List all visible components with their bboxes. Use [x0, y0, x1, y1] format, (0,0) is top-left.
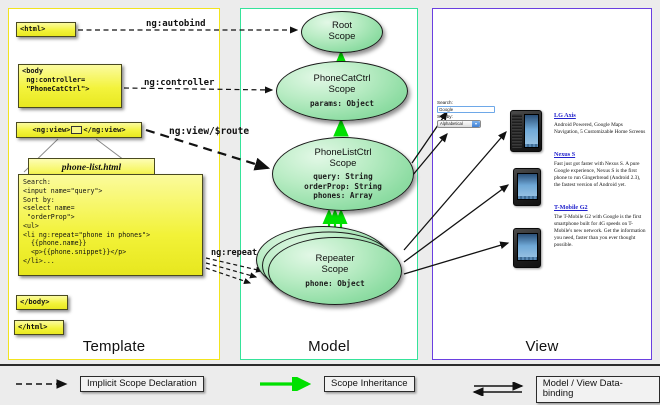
- panel-model-label: Model: [241, 338, 417, 355]
- phone-link-tmobile-g2[interactable]: T-Mobile G2: [554, 204, 588, 211]
- phone-link-nexus-s[interactable]: Nexus S: [554, 151, 575, 158]
- diagram-stage: Template Model View: [0, 0, 660, 405]
- scope-phonelistctrl: PhoneListCtrl Scope query: String orderP…: [272, 137, 414, 211]
- scope-root-title: Root Scope: [329, 21, 356, 42]
- scope-phonecatctrl-props: params: Object: [310, 99, 374, 108]
- legend: Implicit Scope Declaration Scope Inherit…: [0, 364, 660, 405]
- connector-label-repeat: ng:repeat: [211, 248, 257, 258]
- list-item: Nexus S Fast just got faster with Nexus …: [554, 143, 648, 189]
- legend-label-implicit-scope-declaration: Implicit Scope Declaration: [80, 376, 204, 392]
- legend-item-scope-inheritance: Scope Inheritance: [258, 376, 415, 392]
- sort-select[interactable]: Alphabetical ▾: [437, 120, 481, 128]
- panel-template-label: Template: [9, 338, 219, 355]
- scope-phonelistctrl-title: PhoneListCtrl Scope: [314, 148, 371, 169]
- sort-select-value: Alphabetical: [440, 121, 463, 126]
- panel-view-label: View: [433, 338, 651, 355]
- connector-label-route: ng:view/$route: [169, 126, 249, 137]
- legend-label-data-binding: Model / View Data-binding: [536, 376, 660, 403]
- scope-root: Root Scope: [301, 11, 383, 53]
- scope-repeater-props: phone: Object: [305, 279, 364, 288]
- ngview-open-tag: <ng:view>: [32, 126, 70, 135]
- connector-label-autobind: ng:autobind: [146, 19, 206, 29]
- legend-item-implicit-scope-declaration: Implicit Scope Declaration: [14, 376, 204, 392]
- phone-dock-strip: [525, 144, 538, 147]
- phone-list-note: phone-list.html Search: <input name="que…: [18, 158, 203, 288]
- legend-double-arrow-icon: [470, 382, 530, 396]
- phone-screen: [524, 114, 539, 148]
- code-box-html-close: </html>: [14, 320, 64, 335]
- connector-label-controller: ng:controller: [144, 78, 214, 88]
- phone-list-note-code: Search: <input name="query"> Sort by: <s…: [18, 174, 203, 276]
- code-box-body-close: </body>: [16, 295, 68, 310]
- phone-snippet: The T-Mobile G2 with Google is the first…: [554, 214, 648, 249]
- scope-repeater: Repeater Scope phone: Object: [268, 237, 402, 305]
- phone-thumbnail-nexus-s: [513, 168, 541, 206]
- scope-phonecatctrl: PhoneCatCtrl Scope params: Object: [276, 61, 408, 121]
- phone-keyboard: [512, 114, 522, 148]
- legend-label-scope-inheritance: Scope Inheritance: [324, 376, 415, 392]
- list-item: T-Mobile G2 The T-Mobile G2 with Google …: [554, 196, 648, 249]
- phone-screen: [517, 173, 538, 200]
- phone-snippet: Android Powered, Google Maps Navigation,…: [554, 122, 648, 136]
- search-input[interactable]: Google: [437, 106, 495, 113]
- code-box-body-text: <body ng:controller= "PhoneCatCtrl">: [22, 67, 89, 93]
- legend-green-arrow-icon: [258, 377, 318, 391]
- phone-thumbnail-lg-axis: [510, 110, 542, 152]
- code-box-ngview: <ng:view></ng:view>: [16, 122, 142, 138]
- ngview-close-tag: </ng:view>: [83, 126, 125, 135]
- chevron-down-icon: ▾: [472, 121, 480, 127]
- phone-thumbnail-tmobile-g2: [513, 228, 541, 268]
- ngview-placeholder-icon: [71, 126, 82, 134]
- phone-dock-strip: [518, 196, 537, 199]
- phone-dock-strip: [518, 257, 537, 260]
- legend-dashed-arrow-icon: [14, 377, 74, 391]
- scope-phonecatctrl-title: PhoneCatCtrl Scope: [313, 74, 370, 95]
- code-box-body-open: <body ng:controller= "PhoneCatCtrl">: [18, 64, 122, 108]
- view-search-form: Search: Google Sort by: Alphabetical ▾: [437, 100, 499, 128]
- phone-listing: LG Axis Android Powered, Google Maps Nav…: [554, 104, 648, 256]
- phone-link-lg-axis[interactable]: LG Axis: [554, 112, 576, 119]
- scope-repeater-title: Repeater Scope: [315, 254, 354, 275]
- legend-item-data-binding: Model / View Data-binding: [470, 376, 660, 403]
- scope-phonelistctrl-props: query: String orderProp: String phones: …: [304, 172, 382, 199]
- legend-separator: [0, 364, 660, 366]
- phone-snippet: Fast just got faster with Nexus S. A pur…: [554, 161, 648, 189]
- code-box-html-open: <html>: [16, 22, 76, 37]
- phone-screen: [517, 233, 538, 261]
- list-item: LG Axis Android Powered, Google Maps Nav…: [554, 104, 648, 136]
